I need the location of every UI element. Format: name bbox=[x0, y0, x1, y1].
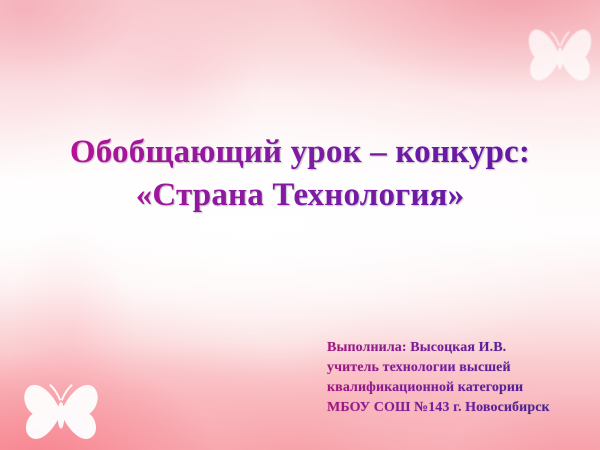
author-line-role: учитель технологии высшей bbox=[327, 358, 595, 378]
author-credits: Выполнила: Высоцкая И.В. учитель техноло… bbox=[327, 338, 595, 418]
slide-title: Обобщающий урок – конкурс: «Страна Техно… bbox=[0, 136, 600, 212]
title-line-1: Обобщающий урок – конкурс: bbox=[0, 136, 600, 169]
author-line-qualification: квалификационной категории bbox=[327, 378, 595, 398]
butterfly-icon bbox=[525, 22, 595, 88]
presentation-slide: Обобщающий урок – конкурс: «Страна Техно… bbox=[0, 0, 600, 450]
author-line-school: МБОУ СОШ №143 г. Новосибирск bbox=[327, 398, 595, 418]
butterfly-icon bbox=[20, 378, 102, 442]
author-line-name: Выполнила: Высоцкая И.В. bbox=[327, 338, 595, 358]
title-line-2: «Страна Технология» bbox=[0, 179, 600, 212]
